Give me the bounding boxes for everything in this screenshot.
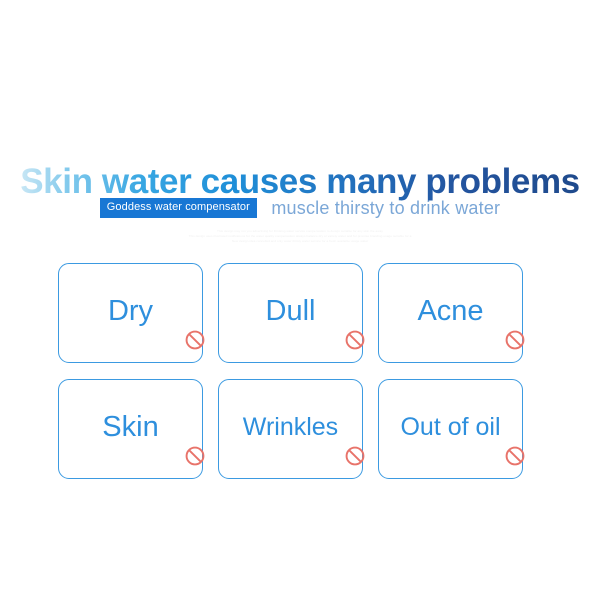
card-label: Out of oil bbox=[400, 415, 500, 440]
problem-card-acne[interactable]: Acne bbox=[378, 263, 523, 363]
card-label: Dry bbox=[108, 297, 153, 326]
prohibition-icon bbox=[344, 445, 366, 467]
prohibition-icon bbox=[504, 445, 526, 467]
problem-card-grid: Dry Dull Acne Skin bbox=[58, 263, 524, 479]
problem-card-wrinkles[interactable]: Wrinkles bbox=[218, 379, 363, 479]
poster-root: Skin water causes many problems Goddess … bbox=[0, 0, 600, 600]
fineprint-block: This design may not you advertising for … bbox=[0, 229, 600, 243]
page-title: Skin water causes many problems bbox=[20, 163, 580, 202]
card-label: Wrinkles bbox=[243, 415, 338, 440]
card-label: Skin bbox=[102, 413, 158, 442]
problem-card-out-of-oil[interactable]: Out of oil bbox=[378, 379, 523, 479]
prohibition-icon bbox=[184, 445, 206, 467]
problem-card-skin[interactable]: Skin bbox=[58, 379, 203, 479]
prohibition-icon bbox=[184, 329, 206, 351]
problem-card-dull[interactable]: Dull bbox=[218, 263, 363, 363]
fineprint-line: New design idea cancelled and only water… bbox=[0, 239, 600, 244]
card-label: Dull bbox=[266, 297, 316, 326]
goddess-water-compensator-badge: Goddess water compensator bbox=[100, 198, 257, 218]
prohibition-icon bbox=[344, 329, 366, 351]
card-label: Acne bbox=[417, 297, 483, 326]
problem-card-dry[interactable]: Dry bbox=[58, 263, 203, 363]
subtitle-row: Goddess water compensator muscle thirsty… bbox=[0, 198, 600, 218]
prohibition-icon bbox=[504, 329, 526, 351]
subtitle-text: muscle thirsty to drink water bbox=[271, 199, 500, 217]
